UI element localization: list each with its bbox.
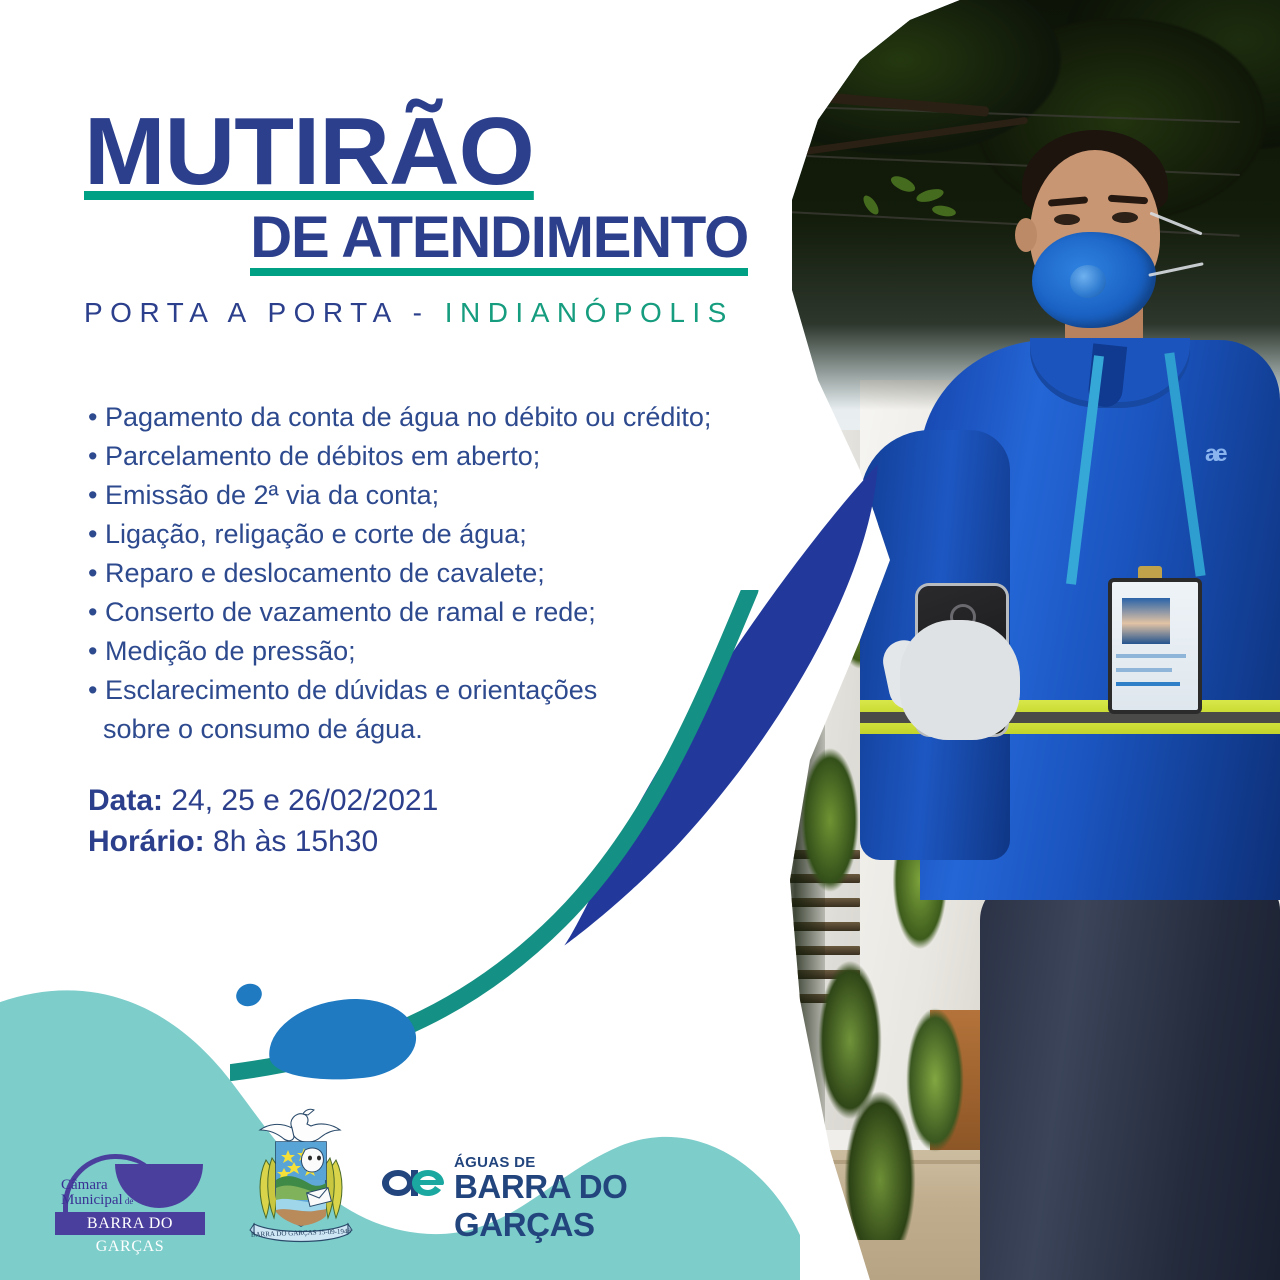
worker-badge-text-line	[1116, 682, 1180, 686]
event-time-row: Horário: 8h às 15h30	[88, 821, 438, 862]
poster-subtitle-city: INDIANÓPOLIS	[445, 297, 734, 328]
worker-ear	[1015, 218, 1037, 252]
poster-title-secondary: DE ATENDIMENTO	[250, 204, 748, 271]
services-list: • Pagamento da conta de água no débito o…	[88, 398, 708, 749]
photo-security-camera	[600, 70, 630, 88]
logo-bar: Câmara Municipal de BARRA DO GARÇAS	[0, 1098, 720, 1258]
worker-badge-text-line	[1116, 668, 1172, 672]
service-text-continuation: sobre o consumo de água.	[88, 710, 708, 749]
worker-badge-photo	[1122, 598, 1170, 644]
camara-line2-wrap: Municipal de	[61, 1193, 133, 1209]
service-text: Emissão de 2ª via da conta;	[105, 480, 439, 510]
worker-hand	[900, 620, 1020, 740]
event-date-value: 24, 25 e 26/02/2021	[163, 784, 438, 817]
list-item: • Medição de pressão;	[88, 632, 708, 671]
worker-mask-valve	[1070, 265, 1106, 298]
worker-pants	[980, 880, 1280, 1280]
event-details: Data: 24, 25 e 26/02/2021 Horário: 8h às…	[88, 780, 438, 862]
title-block: MUTIRÃO DE ATENDIMENTO PORTA A PORTA - I…	[84, 108, 784, 329]
list-item: • Parcelamento de débitos em aberto;	[88, 437, 708, 476]
camara-line1: Câmara	[61, 1178, 133, 1193]
aguas-de-barra-do-garcas-logo: ÁGUAS DE BARRA DO GARÇAS	[378, 1150, 698, 1212]
services-ul: • Pagamento da conta de água no débito o…	[88, 398, 708, 749]
poster-subtitle-prefix: PORTA A PORTA -	[84, 297, 445, 328]
ae-monogram-icon	[378, 1164, 444, 1200]
aguas-logo-main-text: BARRA DO GARÇAS	[454, 1168, 698, 1244]
blue-blob-shape	[264, 992, 420, 1087]
list-item: • Ligação, religação e corte de água;	[88, 515, 708, 554]
blue-dot-shape	[233, 981, 265, 1010]
brasao-coat-of-arms-icon: BARRA DO GARÇAS 15-09-1948	[248, 1106, 354, 1246]
service-text: Pagamento da conta de água no débito ou …	[105, 402, 711, 432]
camara-logo-text: Câmara Municipal de	[61, 1178, 133, 1209]
event-date-row: Data: 24, 25 e 26/02/2021	[88, 780, 438, 821]
event-date-label: Data:	[88, 784, 163, 817]
service-text: Reparo e deslocamento de cavalete;	[105, 558, 545, 588]
event-time-value: 8h às 15h30	[205, 825, 378, 858]
poster-subtitle: PORTA A PORTA - INDIANÓPOLIS	[84, 297, 784, 329]
service-text: Ligação, religação e corte de água;	[105, 519, 527, 549]
poster-title-primary-text: MUTIRÃO	[84, 98, 534, 205]
camara-municipal-logo: Câmara Municipal de BARRA DO GARÇAS	[55, 1150, 205, 1238]
poster-title-primary: MUTIRÃO	[84, 108, 534, 196]
event-time-label: Horário:	[88, 825, 205, 858]
title-underline-primary	[84, 191, 534, 200]
list-item: • Reparo e deslocamento de cavalete;	[88, 554, 708, 593]
worker-eye	[1112, 212, 1138, 223]
poster-canvas: ae MUTIRÃO	[0, 0, 1280, 1280]
camara-city-bar: BARRA DO GARÇAS	[55, 1212, 205, 1235]
list-item: • Pagamento da conta de água no débito o…	[88, 398, 708, 437]
service-text: Parcelamento de débitos em aberto;	[105, 441, 540, 471]
service-text: Esclarecimento de dúvidas e orientações	[105, 675, 597, 705]
poster-title-secondary-text: DE ATENDIMENTO	[250, 205, 748, 270]
worker-shirt-logo: ae	[1205, 440, 1259, 466]
list-item: • Emissão de 2ª via da conta;	[88, 476, 708, 515]
camara-line2-suffix: de	[123, 1196, 134, 1206]
list-item: • Conserto de vazamento de ramal e rede;	[88, 593, 708, 632]
service-text: Medição de pressão;	[105, 636, 356, 666]
title-secondary-wrap: DE ATENDIMENTO	[84, 204, 748, 271]
list-item: • Esclarecimento de dúvidas e orientaçõe…	[88, 671, 708, 749]
worker-badge-text-line	[1116, 654, 1186, 658]
camara-line2: Municipal	[61, 1192, 123, 1208]
service-text: Conserto de vazamento de ramal e rede;	[105, 597, 596, 627]
worker-eye	[1054, 214, 1080, 225]
title-underline-secondary	[250, 268, 748, 276]
